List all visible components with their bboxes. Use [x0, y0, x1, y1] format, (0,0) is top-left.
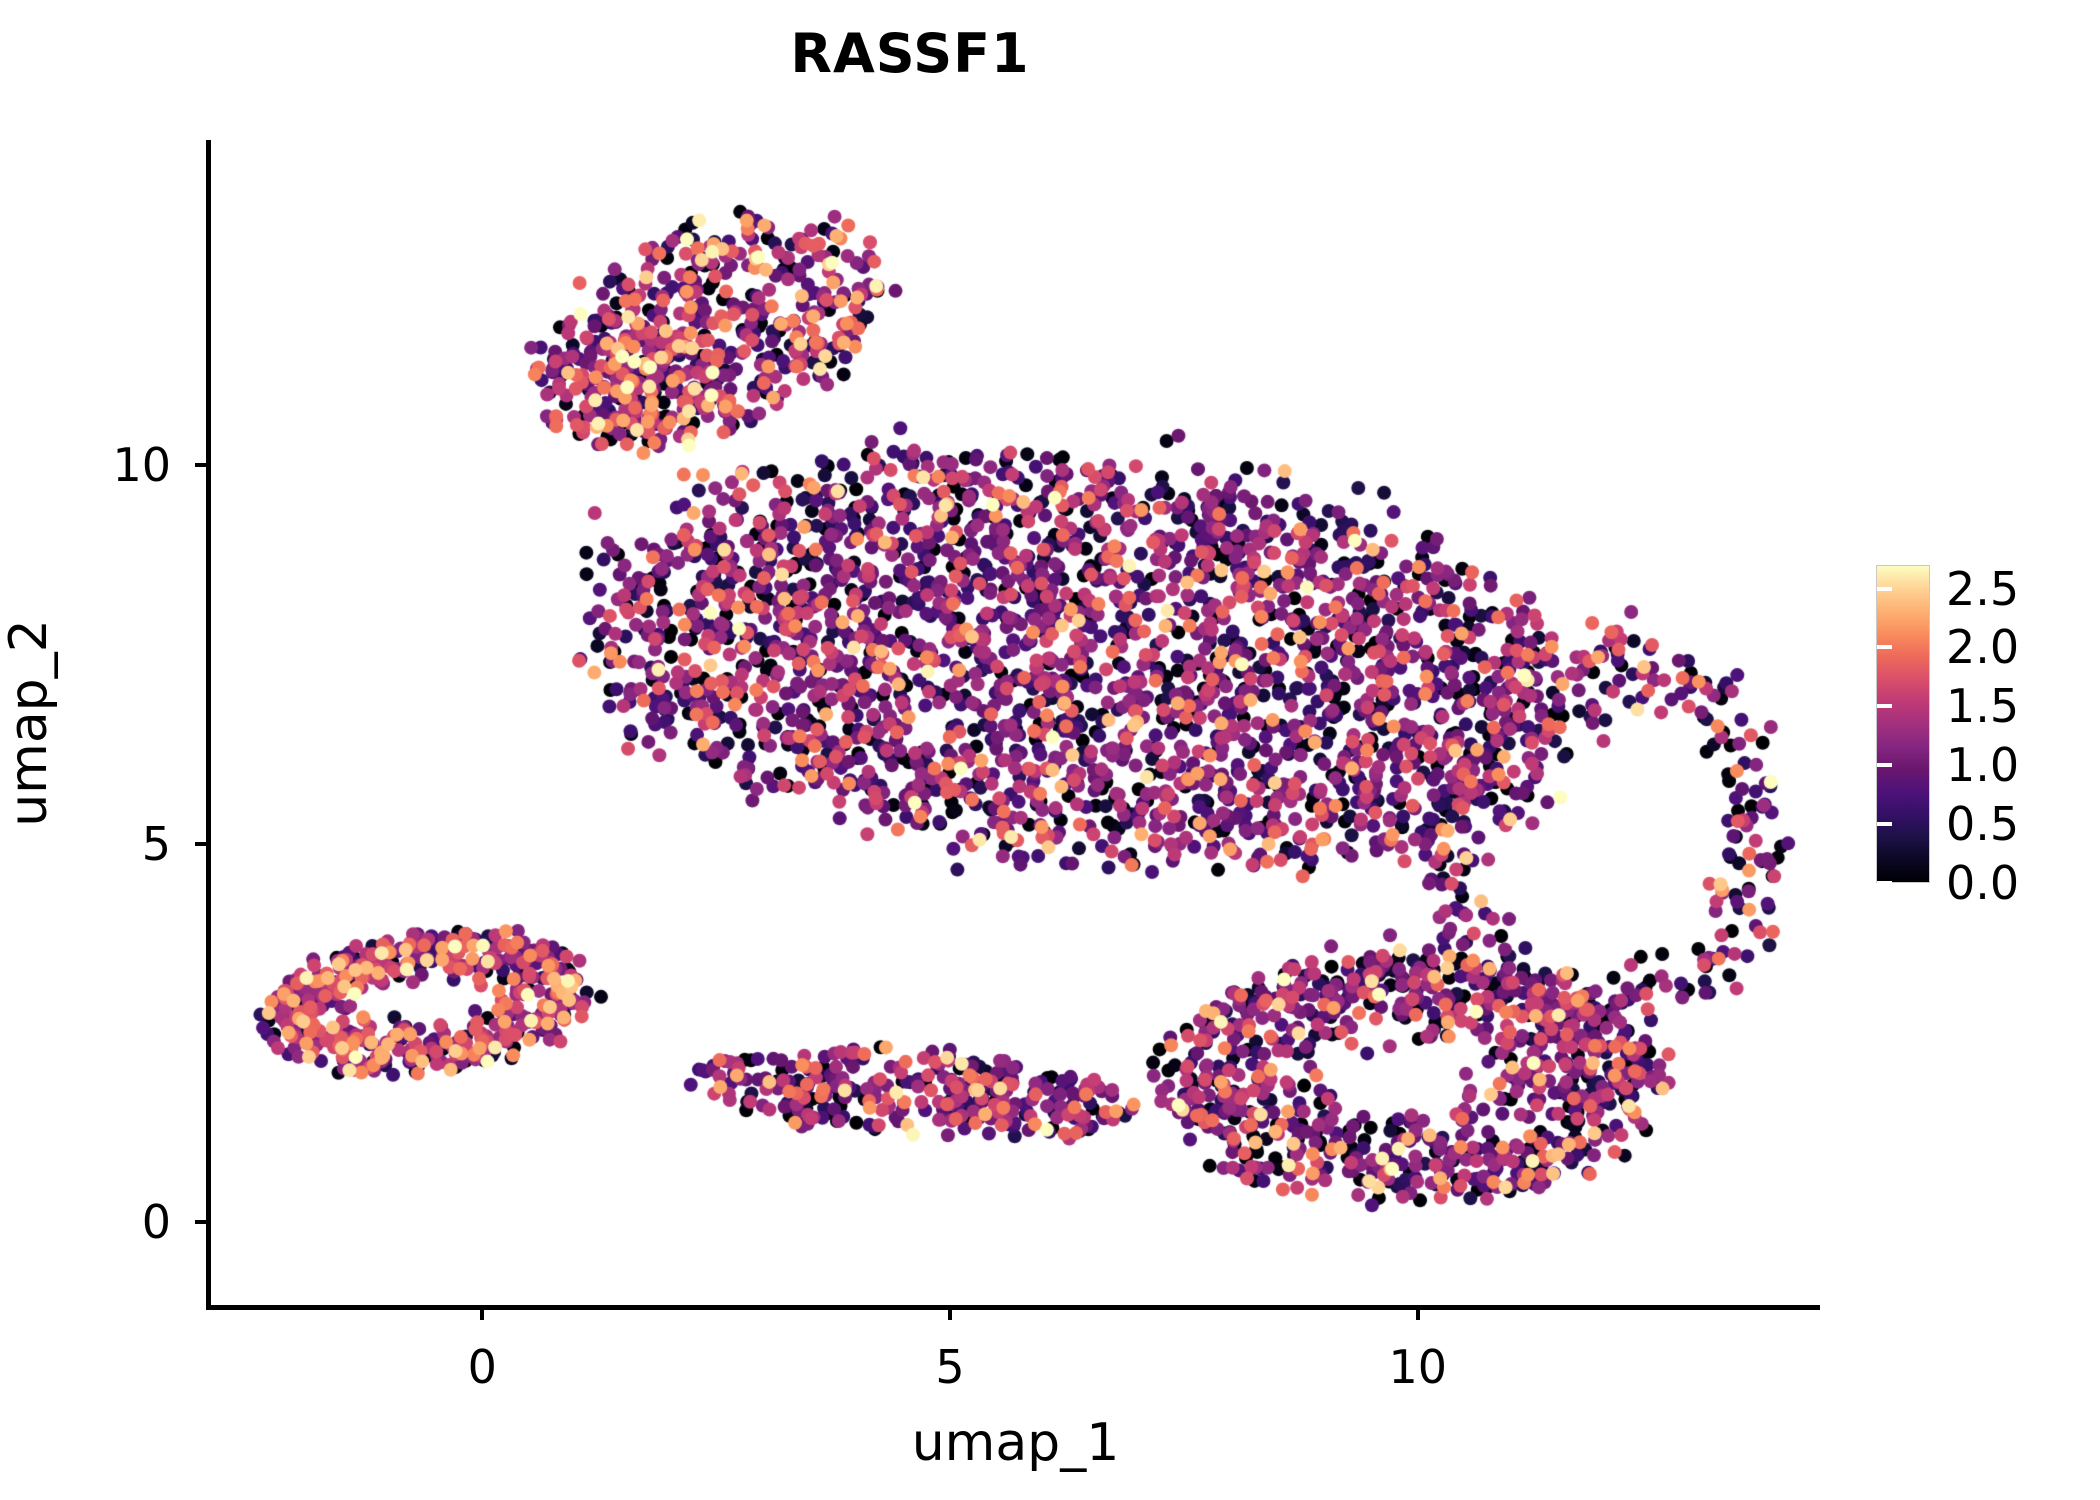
colorbar-tick-label: 0.0: [1946, 860, 2019, 906]
page-title: RASSF1: [0, 22, 1820, 85]
x-tick-label: 5: [890, 1344, 1010, 1390]
colorbar-tick-mark: [2060, 704, 2075, 708]
colorbar-tick-mark: [1877, 822, 1892, 826]
colorbar-tick-label: 0.5: [1946, 801, 2019, 847]
colorbar-tick-mark: [2060, 645, 2075, 649]
colorbar: 0.00.51.01.52.02.5: [1876, 565, 2076, 885]
y-tick-mark: [195, 463, 206, 467]
y-tick-label: 5: [11, 821, 171, 867]
y-tick-mark: [195, 842, 206, 846]
y-tick-mark: [195, 1220, 206, 1224]
colorbar-tick-mark: [1877, 645, 1892, 649]
colorbar-tick-mark: [1877, 881, 1892, 885]
colorbar-tick-mark: [1877, 704, 1892, 708]
colorbar-tick-label: 2.0: [1946, 624, 2019, 670]
x-tick-label: 0: [422, 1344, 542, 1390]
x-tick-mark: [480, 1309, 484, 1320]
x-tick-label: 10: [1358, 1344, 1478, 1390]
y-tick-label: 10: [11, 442, 171, 488]
colorbar-tick-label: 1.5: [1946, 683, 2019, 729]
colorbar-tick-label: 2.5: [1946, 566, 2019, 612]
colorbar-tick-mark: [1877, 763, 1892, 767]
colorbar-tick-label: 1.0: [1946, 742, 2019, 788]
umap-feature-plot: RASSF1 0510 0510 umap_1 umap_2 0.00.51.0…: [0, 0, 2100, 1500]
colorbar-tick-mark: [2060, 881, 2075, 885]
y-axis-label: umap_2: [0, 619, 59, 827]
x-tick-mark: [1416, 1309, 1420, 1320]
colorbar-tick-mark: [1877, 587, 1892, 591]
colorbar-gradient: [1876, 565, 1930, 883]
x-tick-mark: [948, 1309, 952, 1320]
x-axis-label: umap_1: [211, 1413, 1820, 1473]
colorbar-tick-mark: [2060, 587, 2075, 591]
x-axis-spine: [206, 1305, 1820, 1310]
plot-axes: 0510 0510 umap_1 umap_2: [211, 140, 1820, 1305]
y-tick-label: 0: [11, 1199, 171, 1245]
scatter-points-canvas: [211, 140, 1820, 1305]
colorbar-tick-mark: [2060, 763, 2075, 767]
scatter-plot-area: [211, 140, 1820, 1305]
colorbar-tick-mark: [2060, 822, 2075, 826]
